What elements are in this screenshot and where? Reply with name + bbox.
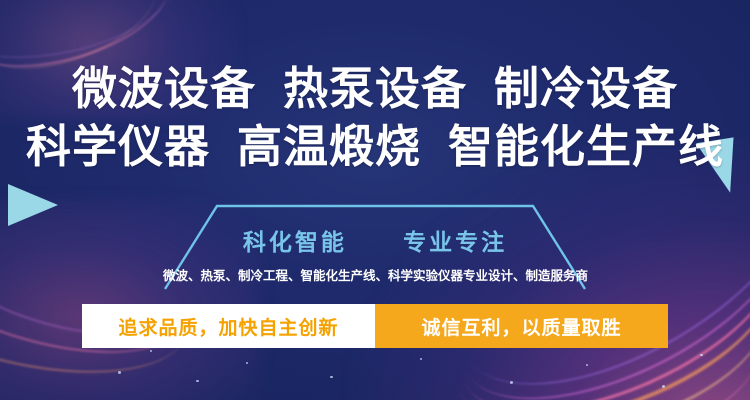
headline-line-2: 科学仪器 高温煅烧 智能化生产线 [0, 118, 750, 176]
promo-banner: 微波设备 热泵设备 制冷设备 科学仪器 高温煅烧 智能化生产线 科化智能 专业专… [0, 0, 750, 400]
sparkle-icon [420, 358, 422, 360]
sparkle-icon [700, 354, 703, 357]
sparkle-icon [330, 376, 333, 379]
slogan-bar-quality[interactable]: 追求品质，加快自主创新 [82, 304, 375, 348]
sub-heading: 科化智能 专业专注 [163, 223, 587, 257]
slogan-bar-integrity[interactable]: 诚信互利，以质量取胜 [375, 304, 668, 348]
sparkle-icon [150, 350, 152, 352]
sparkle-icon [196, 380, 199, 383]
service-description: 微波、热泵、制冷工程、智能化生产线、科学实验仪器专业设计、制造服务商 [163, 265, 587, 284]
trapezoid-panel: 科化智能 专业专注 微波、热泵、制冷工程、智能化生产线、科学实验仪器专业设计、制… [163, 203, 587, 291]
headline-line-1: 微波设备 热泵设备 制冷设备 [0, 60, 750, 118]
sparkle-icon [586, 364, 588, 366]
sparkle-icon [118, 371, 121, 374]
sparkle-icon [662, 385, 665, 388]
triangle-accent-left-icon [8, 184, 58, 226]
sparkle-icon [510, 381, 513, 384]
sparkle-icon [246, 362, 248, 364]
headline-group: 微波设备 热泵设备 制冷设备 科学仪器 高温煅烧 智能化生产线 [0, 60, 750, 176]
slogan-bar-group: 追求品质，加快自主创新 诚信互利，以质量取胜 [82, 304, 668, 348]
